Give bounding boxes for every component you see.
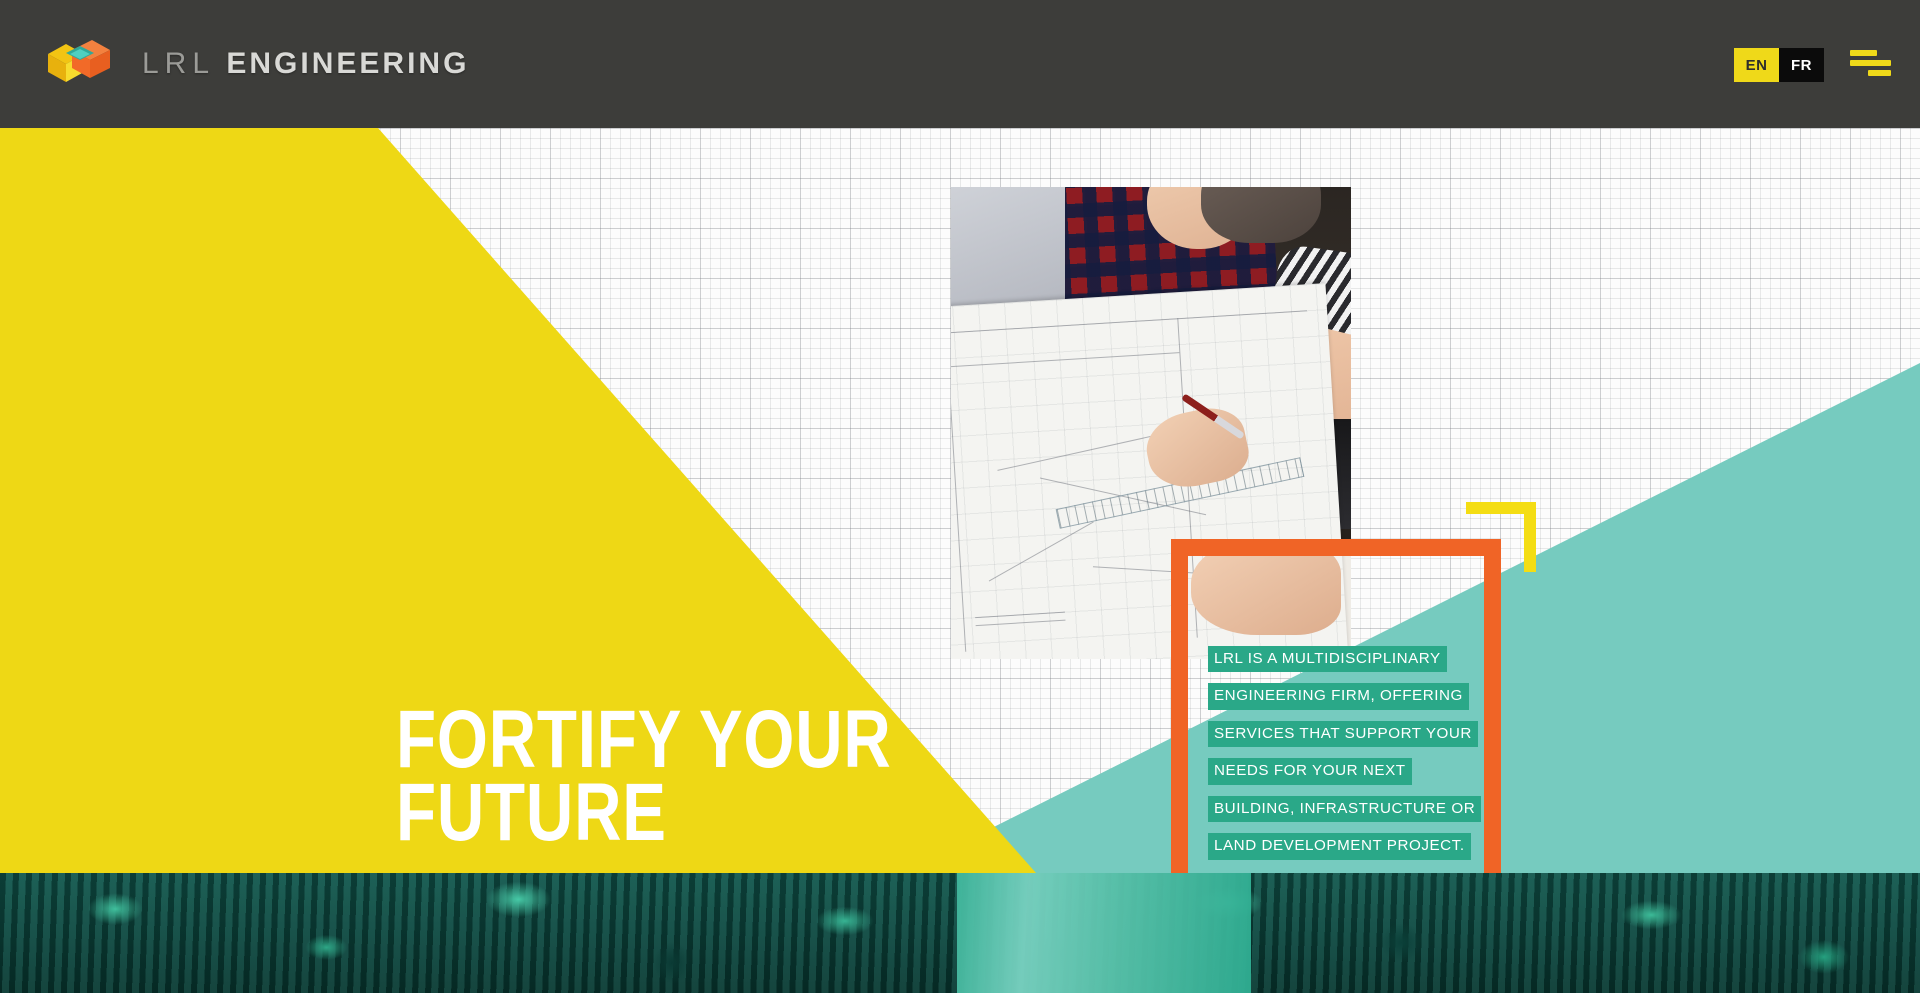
brand-logo-link[interactable]: LRL ENGINEERING xyxy=(44,30,469,98)
lede-line: BUILDING, INFRASTRUCTURE OR xyxy=(1208,796,1481,822)
hero-lede-paragraph: LRL IS A MULTIDISCIPLINARY ENGINEERING F… xyxy=(1208,646,1470,871)
lang-button-en[interactable]: EN xyxy=(1734,48,1779,82)
hamburger-menu-icon[interactable] xyxy=(1848,50,1892,80)
headline-line-2: FUTURE xyxy=(396,777,892,850)
brand-wordmark-bold: ENGINEERING xyxy=(215,47,469,80)
lede-line: ENGINEERING FIRM, OFFERING xyxy=(1208,683,1469,709)
hamburger-bar-top xyxy=(1850,50,1877,56)
bracket-vertical-bar xyxy=(1524,502,1536,572)
lede-line: NEEDS FOR YOUR NEXT xyxy=(1208,758,1412,784)
lang-button-fr[interactable]: FR xyxy=(1779,48,1824,82)
brand-wordmark: LRL ENGINEERING xyxy=(142,49,469,79)
hamburger-bar-bottom xyxy=(1868,70,1891,76)
hero-headline: FORTIFY YOUR FUTURE xyxy=(396,704,892,850)
hamburger-bar-middle xyxy=(1850,60,1891,66)
language-switcher[interactable]: EN FR xyxy=(1734,48,1824,82)
lede-line: LRL IS A MULTIDISCIPLINARY xyxy=(1208,646,1447,672)
lede-line: SERVICES THAT SUPPORT YOUR xyxy=(1208,721,1478,747)
page-root: LRL ENGINEERING EN FR xyxy=(0,0,1920,993)
site-header: LRL ENGINEERING EN FR xyxy=(0,0,1920,128)
gravel-light-band xyxy=(957,873,1251,993)
brand-wordmark-light: LRL xyxy=(142,47,215,80)
isometric-box-logo-icon xyxy=(44,30,112,98)
bottom-texture-section xyxy=(0,873,1920,993)
lede-line: LAND DEVELOPMENT PROJECT. xyxy=(1208,833,1471,859)
hero-section: FORTIFY YOUR FUTURE LRL IS A MULTIDISCIP… xyxy=(0,128,1920,873)
